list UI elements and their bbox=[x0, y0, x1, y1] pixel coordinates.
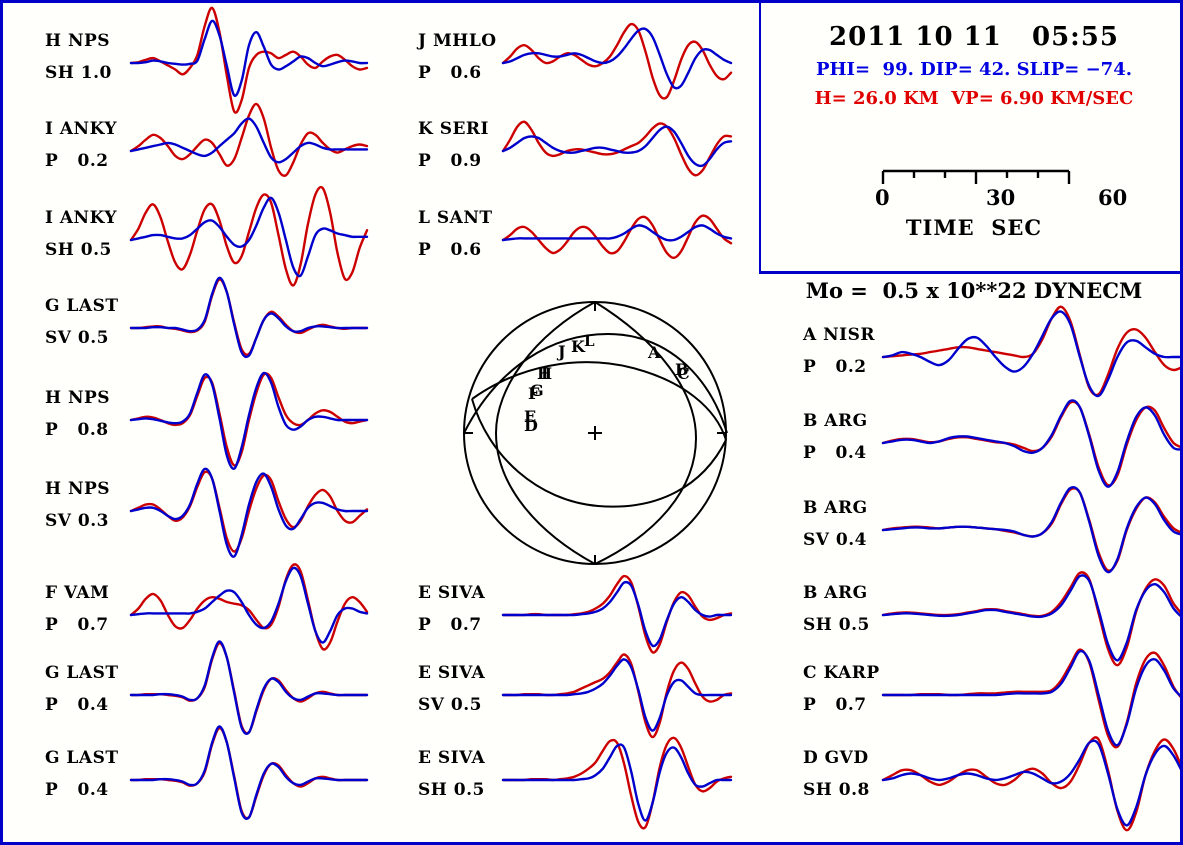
waveform-trace bbox=[131, 653, 367, 737]
beachball-letter-G: G bbox=[530, 383, 544, 399]
station-label-block: G LASTP 0.4 bbox=[45, 750, 119, 800]
station-name: G LAST bbox=[45, 750, 119, 768]
waveform-trace bbox=[131, 573, 367, 657]
phase-amplitude: SV 0.3 bbox=[45, 513, 110, 531]
observed-waveform bbox=[131, 119, 367, 163]
beachball-letter-J: J bbox=[558, 344, 566, 360]
waveform-trace bbox=[883, 488, 1183, 572]
station-label-block: E SIVAP 0.7 bbox=[418, 585, 485, 635]
station-label-block: I ANKYSH 0.5 bbox=[45, 210, 117, 260]
waveform-trace bbox=[131, 21, 367, 105]
synthetic-waveform bbox=[883, 737, 1183, 830]
station-name: L SANT bbox=[418, 210, 493, 228]
phase-amplitude: SH 1.0 bbox=[45, 65, 112, 83]
observed-waveform bbox=[883, 487, 1183, 572]
station-label-block: D GVDSH 0.8 bbox=[803, 750, 870, 800]
beachball-letter-I: I bbox=[541, 366, 548, 382]
beachball-letter-A: A bbox=[648, 345, 660, 361]
station-name: I ANKY bbox=[45, 210, 117, 228]
waveform-trace bbox=[883, 738, 1183, 822]
synthetic-waveform bbox=[131, 104, 367, 176]
beachball-letter-L: L bbox=[584, 334, 595, 349]
station-name: K SERI bbox=[418, 121, 489, 139]
phase-amplitude: P 0.4 bbox=[45, 782, 119, 800]
observed-waveform bbox=[883, 575, 1183, 660]
station-label-block: J MHLOP 0.6 bbox=[418, 33, 497, 83]
station-name: E SIVA bbox=[418, 585, 485, 603]
station-label-block: L SANTP 0.6 bbox=[418, 210, 493, 260]
observed-waveform bbox=[503, 127, 731, 166]
observed-waveform bbox=[503, 225, 731, 240]
station-name: A NISR bbox=[803, 327, 875, 345]
phase-amplitude: P 0.7 bbox=[45, 617, 109, 635]
observed-waveform bbox=[131, 568, 367, 643]
waveform-trace bbox=[131, 198, 367, 282]
station-label-block: I ANKYP 0.2 bbox=[45, 121, 117, 171]
phase-amplitude: P 0.6 bbox=[418, 65, 497, 83]
waveform-trace bbox=[503, 573, 731, 657]
station-name: E SIVA bbox=[418, 750, 485, 768]
station-label-block: E SIVASH 0.5 bbox=[418, 750, 485, 800]
nodal-plane-right bbox=[595, 302, 696, 564]
waveform-trace bbox=[131, 738, 367, 822]
station-name: B ARG bbox=[803, 413, 868, 431]
phase-amplitude: SH 0.8 bbox=[803, 782, 870, 800]
station-name: J MHLO bbox=[418, 33, 497, 51]
station-name: B ARG bbox=[803, 585, 870, 603]
waveform-trace bbox=[131, 378, 367, 462]
phase-amplitude: P 0.7 bbox=[418, 617, 485, 635]
tick-60: 60 bbox=[1098, 185, 1127, 210]
time-axis-label: TIME SEC bbox=[761, 215, 1183, 240]
synthetic-waveform bbox=[131, 728, 367, 818]
observed-waveform bbox=[503, 29, 731, 89]
station-label-block: B ARGSH 0.5 bbox=[803, 585, 870, 635]
phase-amplitude: SV 0.5 bbox=[418, 697, 485, 715]
event-info-panel: 2011 10 11 05:55 PHI= 99. DIP= 42. SLIP=… bbox=[759, 0, 1183, 273]
phase-amplitude: P 0.8 bbox=[45, 422, 110, 440]
waveform-trace bbox=[503, 738, 731, 822]
waveform-trace bbox=[131, 469, 367, 553]
figure-canvas: 2011 10 11 05:55 PHI= 99. DIP= 42. SLIP=… bbox=[0, 0, 1183, 845]
synthetic-waveform bbox=[883, 650, 1183, 748]
phase-amplitude: SH 0.5 bbox=[418, 782, 485, 800]
synthetic-waveform bbox=[503, 738, 731, 829]
station-name: G LAST bbox=[45, 665, 119, 683]
station-name: H NPS bbox=[45, 390, 110, 408]
observed-waveform bbox=[131, 21, 367, 96]
phase-amplitude: P 0.6 bbox=[418, 242, 493, 260]
waveform-trace bbox=[503, 198, 731, 282]
synthetic-waveform bbox=[131, 564, 367, 649]
focal-mechanism-beachball: A B C D E F G H I J K L bbox=[458, 296, 733, 571]
phase-amplitude: P 0.2 bbox=[803, 359, 875, 377]
observed-waveform bbox=[503, 659, 731, 730]
station-name: F VAM bbox=[45, 585, 109, 603]
phase-amplitude: P 0.7 bbox=[803, 697, 880, 715]
beachball-letter-E: E bbox=[524, 409, 536, 425]
nodal-plane-1-upper bbox=[464, 334, 727, 433]
phase-amplitude: SV 0.4 bbox=[803, 532, 868, 550]
observed-waveform bbox=[131, 642, 367, 734]
station-label-block: B ARGSV 0.4 bbox=[803, 500, 868, 550]
observed-waveform bbox=[883, 400, 1183, 486]
station-name: H NPS bbox=[45, 481, 110, 499]
phase-amplitude: SH 0.5 bbox=[45, 242, 117, 260]
event-datetime: 2011 10 11 05:55 bbox=[761, 22, 1183, 52]
station-label-block: B ARGP 0.4 bbox=[803, 413, 868, 463]
station-label-block: G LASTSV 0.5 bbox=[45, 298, 119, 348]
focal-mechanism-params: PHI= 99. DIP= 42. SLIP= −74. bbox=[761, 59, 1183, 80]
station-name: I ANKY bbox=[45, 121, 117, 139]
station-name: B ARG bbox=[803, 500, 868, 518]
observed-waveform bbox=[883, 651, 1183, 745]
waveform-trace bbox=[503, 21, 731, 105]
station-name: E SIVA bbox=[418, 665, 485, 683]
waveform-trace bbox=[503, 109, 731, 193]
tick-0: 0 bbox=[875, 185, 890, 210]
phase-amplitude: P 0.4 bbox=[803, 445, 868, 463]
observed-waveform bbox=[131, 198, 367, 276]
station-name: D GVD bbox=[803, 750, 870, 768]
phase-amplitude: SV 0.5 bbox=[45, 330, 119, 348]
station-label-block: H NPSSV 0.3 bbox=[45, 481, 110, 531]
beachball-letter-C: C bbox=[677, 366, 690, 382]
synthetic-waveform bbox=[131, 8, 367, 113]
tick-30: 30 bbox=[986, 185, 1015, 210]
synthetic-waveform bbox=[883, 488, 1183, 570]
nodal-arc-lower bbox=[472, 399, 726, 507]
synthetic-waveform bbox=[131, 643, 367, 733]
station-label-block: C KARPP 0.7 bbox=[803, 665, 880, 715]
station-label-block: H NPSP 0.8 bbox=[45, 390, 110, 440]
observed-waveform bbox=[503, 745, 731, 821]
synthetic-waveform bbox=[503, 24, 731, 98]
observed-waveform bbox=[131, 278, 367, 357]
station-label-block: A NISRP 0.2 bbox=[803, 327, 875, 377]
station-label-block: G LASTP 0.4 bbox=[45, 665, 119, 715]
waveform-trace bbox=[883, 653, 1183, 737]
depth-velocity-params: H= 26.0 KM VP= 6.90 KM/SEC bbox=[761, 88, 1183, 109]
waveform-trace bbox=[131, 109, 367, 193]
observed-waveform bbox=[883, 741, 1183, 826]
station-label-block: E SIVASV 0.5 bbox=[418, 665, 485, 715]
station-label-block: H NPSSH 1.0 bbox=[45, 33, 112, 83]
phase-amplitude: P 0.4 bbox=[45, 697, 119, 715]
station-label-block: K SERIP 0.9 bbox=[418, 121, 489, 171]
time-scale-bar bbox=[881, 167, 1071, 189]
waveform-trace bbox=[503, 653, 731, 737]
waveform-trace bbox=[883, 573, 1183, 657]
station-label-block: F VAMP 0.7 bbox=[45, 585, 109, 635]
waveform-trace bbox=[883, 401, 1183, 485]
waveform-trace bbox=[131, 286, 367, 370]
synthetic-waveform bbox=[131, 279, 367, 354]
station-name: G LAST bbox=[45, 298, 119, 316]
station-name: C KARP bbox=[803, 665, 880, 683]
phase-amplitude: P 0.9 bbox=[418, 153, 489, 171]
observed-waveform bbox=[503, 582, 731, 646]
phase-amplitude: P 0.2 bbox=[45, 153, 117, 171]
seismic-moment-label: Mo = 0.5 x 10**22 DYNECM bbox=[759, 278, 1183, 303]
observed-waveform bbox=[131, 727, 367, 819]
station-name: H NPS bbox=[45, 33, 112, 51]
synthetic-waveform bbox=[503, 122, 731, 176]
synthetic-waveform bbox=[883, 307, 1183, 395]
nodal-plane-2-lower bbox=[464, 433, 727, 533]
waveform-trace bbox=[883, 315, 1183, 399]
panel-divider bbox=[759, 271, 1183, 274]
beachball-letter-K: K bbox=[571, 339, 585, 355]
synthetic-waveform bbox=[883, 572, 1183, 665]
synthetic-waveform bbox=[131, 472, 367, 552]
observed-waveform bbox=[883, 311, 1183, 396]
phase-amplitude: SH 0.5 bbox=[803, 617, 870, 635]
